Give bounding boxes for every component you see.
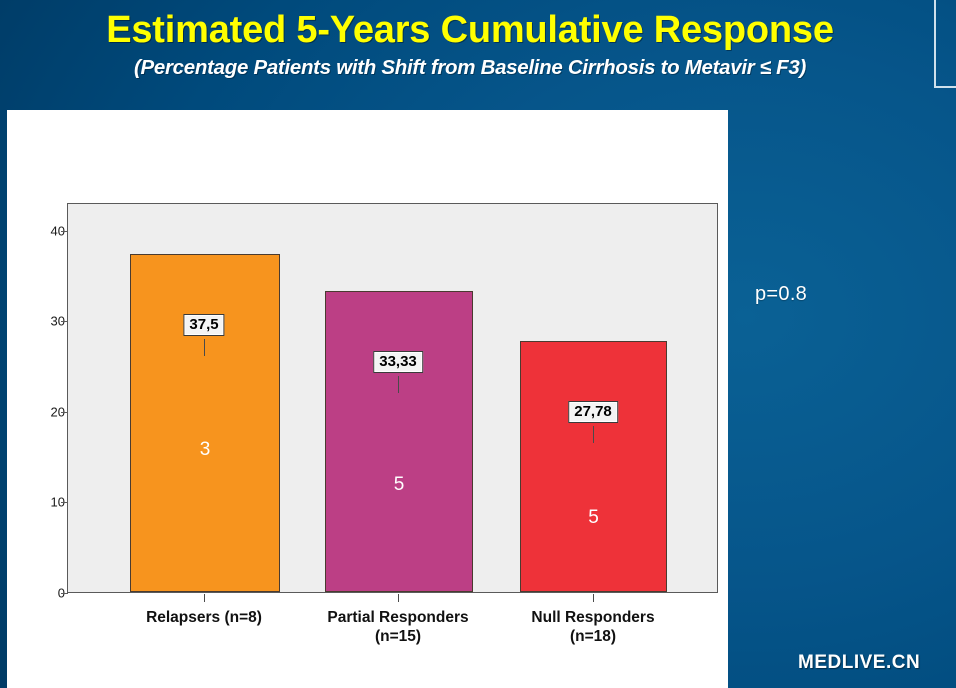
bar-relapsers[interactable]: 3 [130,254,280,592]
bar-chart: 0 10 20 30 40 3 5 5 [7,110,728,688]
value-label-null-responders: 27,78 [568,401,618,423]
value-label-partial-responders: 33,33 [373,351,423,373]
page-title: Estimated 5-Years Cumulative Response [0,0,940,52]
bar-count-label: 5 [521,507,666,529]
bar-partial-responders[interactable]: 5 [325,291,473,592]
x-axis-label-null-responders: Null Responders (n=18) [483,608,703,646]
y-tick-label: 0 [7,586,65,601]
y-tick-label: 20 [7,405,65,420]
y-tick-label: 40 [7,224,65,239]
y-tick-mark [61,593,68,594]
bar-count-label: 5 [326,474,472,496]
y-tick-label: 10 [7,495,65,510]
y-tick-label: 30 [7,314,65,329]
medlive-watermark: MEDLIVE.CN [798,652,920,674]
plot-area: 3 5 5 [67,203,718,593]
x-tick-mark [204,594,205,602]
page-subtitle: (Percentage Patients with Shift from Bas… [0,52,940,81]
leader-line [204,339,205,356]
bar-count-label: 3 [131,439,279,461]
x-tick-mark [398,594,399,602]
slide-canvas: Estimated 5-Years Cumulative Response (P… [0,0,956,688]
bar-null-responders[interactable]: 5 [520,341,667,592]
title-block: Estimated 5-Years Cumulative Response (P… [0,0,940,104]
value-label-relapsers: 37,5 [183,314,224,336]
x-axis-label-partial-responders: Partial Responders (n=15) [288,608,508,646]
x-tick-mark [593,594,594,602]
chart-panel: 0 10 20 30 40 3 5 5 [7,110,728,688]
p-value-annotation: p=0.8 [755,283,807,306]
x-axis-label-relapsers: Relapsers (n=8) [94,608,314,627]
leader-line [593,426,594,443]
leader-line [398,376,399,393]
